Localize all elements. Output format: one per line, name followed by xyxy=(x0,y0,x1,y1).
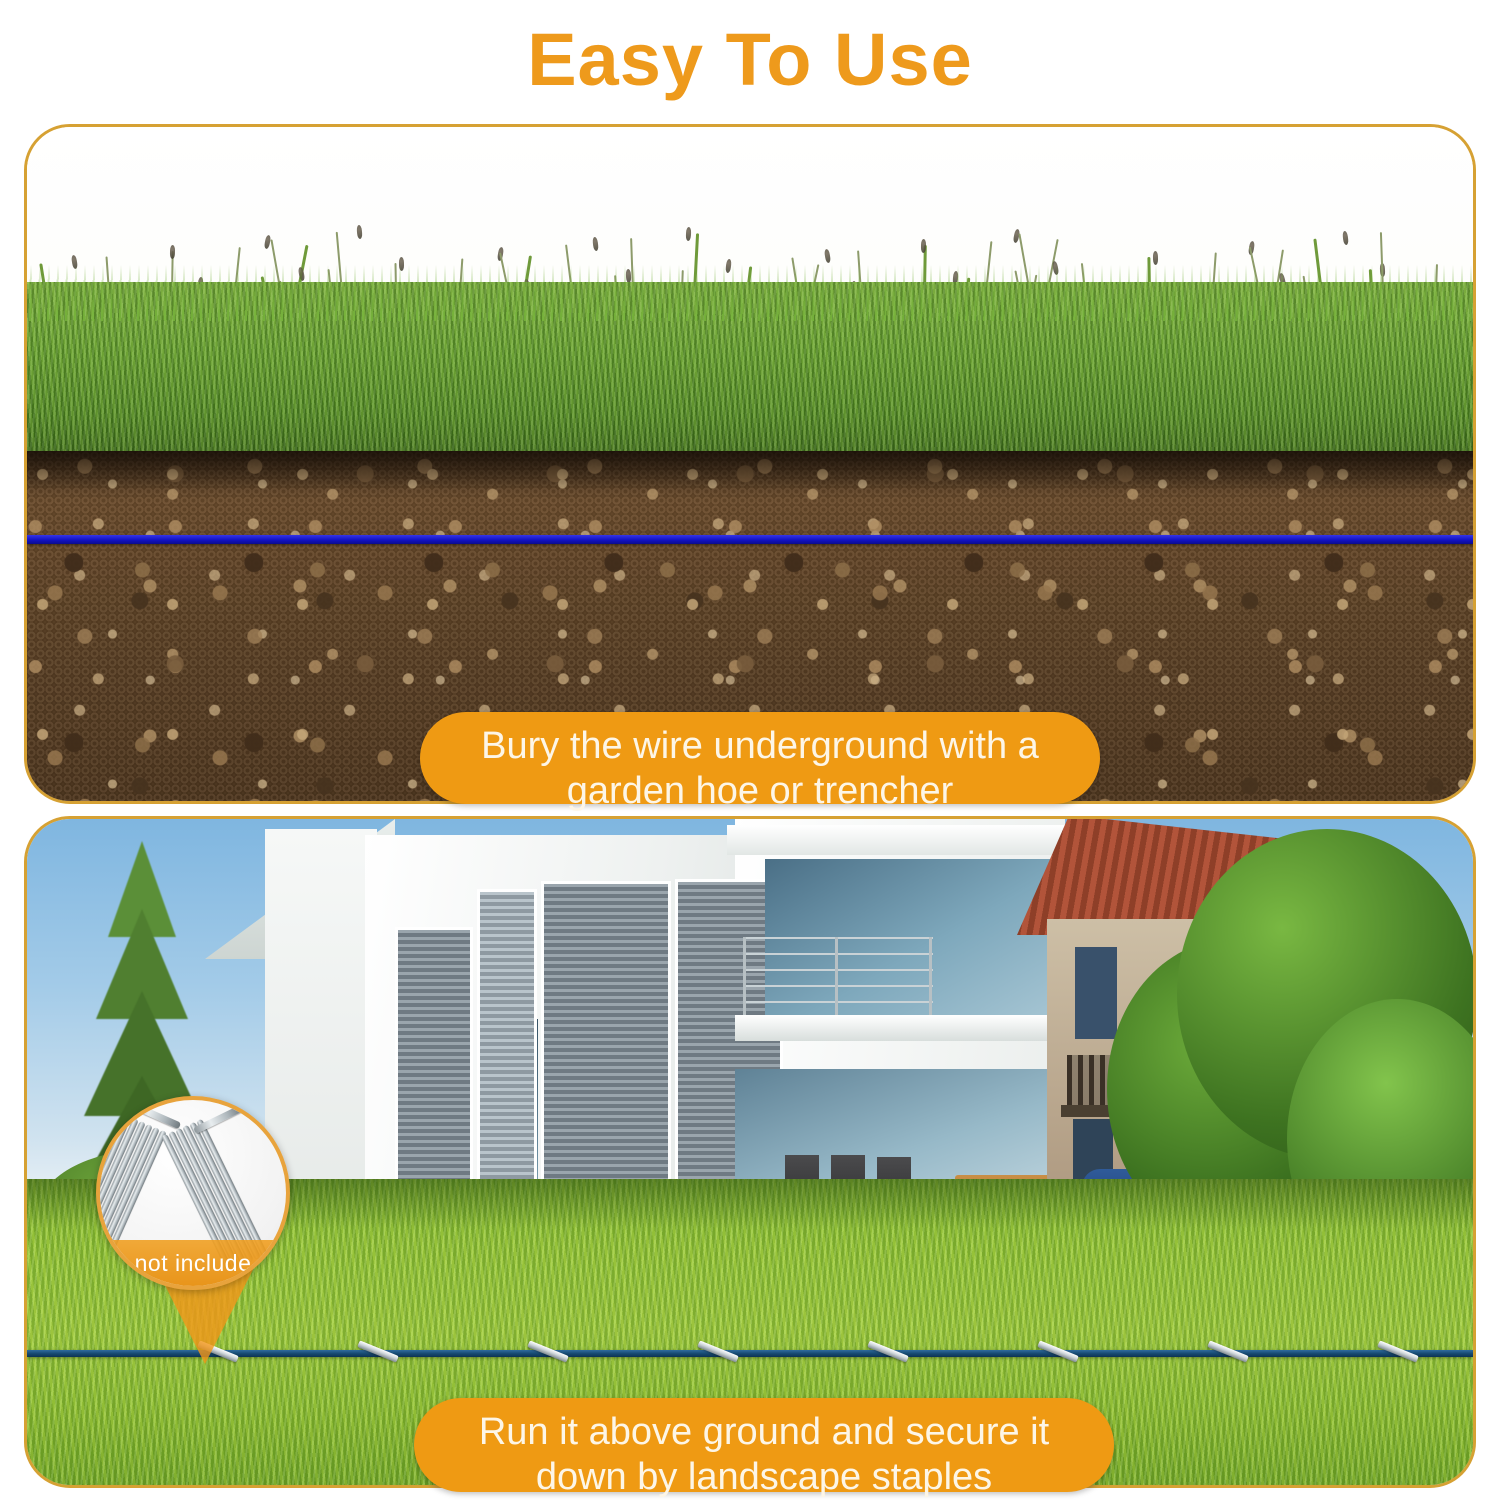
grass-fringe xyxy=(27,265,1473,321)
staples-callout: not include xyxy=(96,1096,290,1290)
window-blinds xyxy=(541,881,671,1207)
underground-scene xyxy=(27,127,1473,801)
roof-overhang xyxy=(727,825,1072,855)
panel-underground xyxy=(24,124,1476,804)
balcony-slab xyxy=(735,1015,1065,1041)
buried-boundary-wire xyxy=(27,535,1473,544)
window-blinds xyxy=(477,889,537,1207)
not-include-badge: not include xyxy=(100,1240,286,1286)
soil-top-shadow xyxy=(27,451,1473,491)
window-blinds xyxy=(395,927,473,1197)
page-title: Easy To Use xyxy=(0,8,1500,112)
caption-above-ground: Run it above ground and secure it down b… xyxy=(414,1398,1114,1492)
balcony-railing xyxy=(743,937,933,1017)
caption-underground: Bury the wire underground with a garden … xyxy=(420,712,1100,804)
infographic-canvas: Easy To Use Bury the wire underground wi… xyxy=(0,0,1500,1500)
neighbour-window xyxy=(1075,947,1117,1039)
